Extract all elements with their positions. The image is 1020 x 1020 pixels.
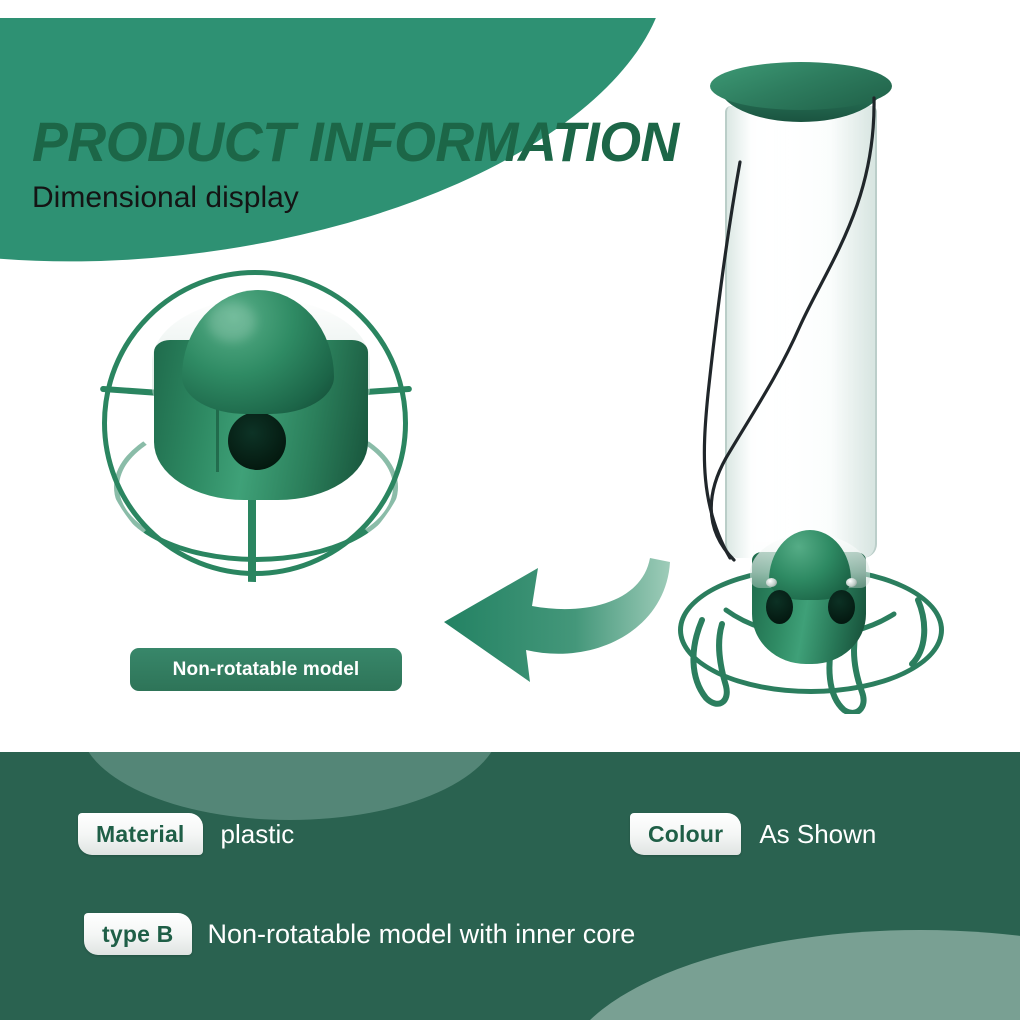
inset-feed-port (228, 412, 286, 470)
spec-value-type: Non-rotatable model with inner core (208, 919, 636, 950)
base-screw-right (846, 578, 857, 587)
spec-value-material: plastic (221, 819, 295, 850)
spec-label-colour: Colour (630, 813, 741, 855)
spec-row-material: Material plastic (78, 813, 294, 855)
page-subtitle: Dimensional display (32, 183, 299, 213)
base-feed-port-left (766, 590, 793, 624)
spec-row-colour: Colour As Shown (630, 813, 876, 855)
inset-dome-highlight (208, 302, 256, 342)
page-title: PRODUCT INFORMATION (32, 114, 679, 170)
spec-row-type: type B Non-rotatable model with inner co… (84, 913, 635, 955)
product-photo (630, 54, 990, 714)
hanging-wire (630, 54, 990, 714)
spec-label-type: type B (84, 913, 192, 955)
product-information-page: PRODUCT INFORMATION Dimensional display … (0, 0, 1020, 1020)
spec-value-colour: As Shown (759, 819, 876, 850)
inset-product-photo (96, 262, 416, 582)
inset-center-stem (248, 494, 256, 582)
base-screw-left (766, 578, 777, 587)
base-feed-port-right (828, 590, 855, 624)
panel-blob-top-left (80, 752, 500, 820)
spec-label-material: Material (78, 813, 203, 855)
non-rotatable-model-badge: Non-rotatable model (130, 648, 402, 691)
magnified-inset-circle (96, 262, 416, 582)
non-rotatable-model-badge-label: Non-rotatable model (173, 659, 360, 681)
spec-panel (0, 752, 1020, 1020)
top-edge-mask (0, 0, 1020, 18)
